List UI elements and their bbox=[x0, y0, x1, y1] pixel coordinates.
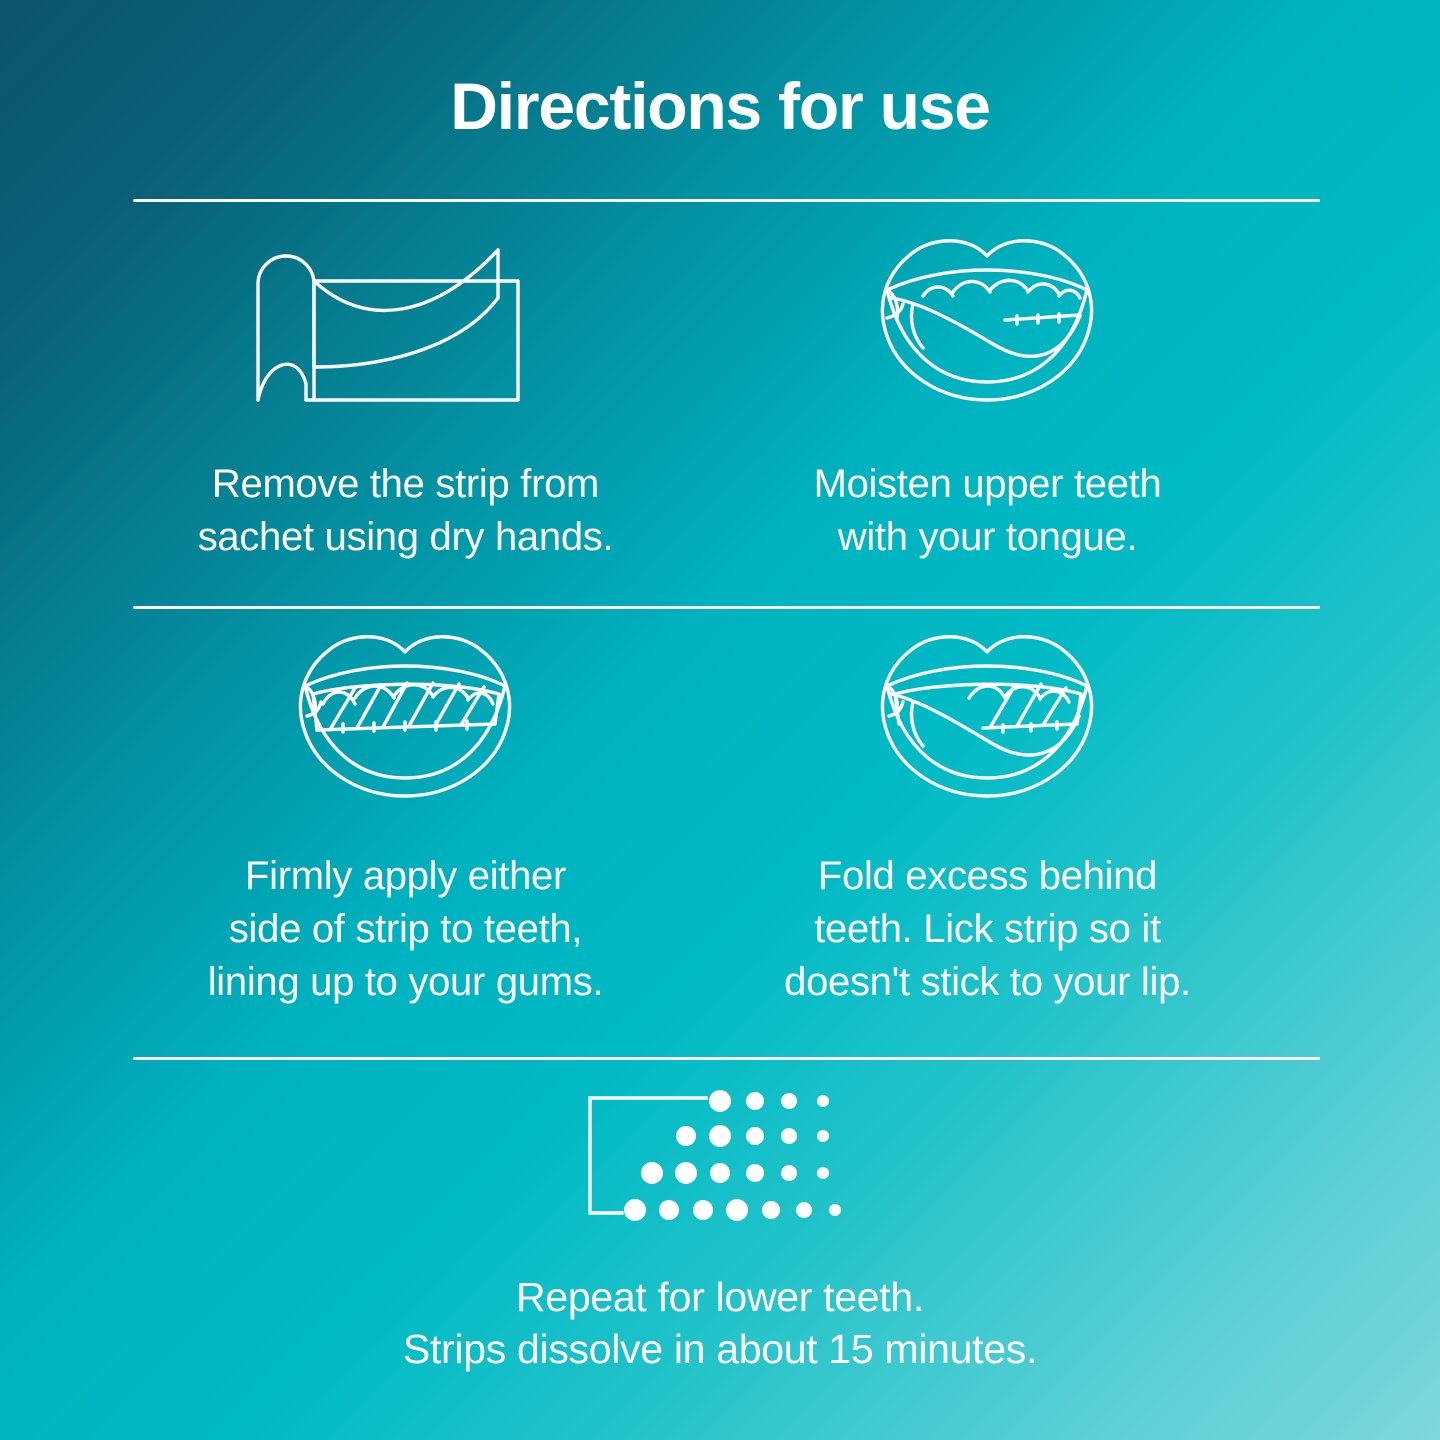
mouth-strip-applied-icon bbox=[133, 628, 678, 808]
divider-top bbox=[133, 199, 1320, 202]
strip-dissolving-dots-icon bbox=[300, 1088, 1140, 1233]
step-2-caption: Moisten upper teeth with your tongue. bbox=[715, 458, 1260, 564]
divider-middle bbox=[133, 606, 1320, 609]
page-title: Directions for use bbox=[0, 72, 1440, 141]
step-1-caption: Remove the strip from sachet using dry h… bbox=[133, 458, 678, 564]
step-5: Repeat for lower teeth. Strips dissolve … bbox=[300, 1088, 1140, 1375]
step-4-caption: Fold excess behind teeth. Lick strip so … bbox=[715, 850, 1260, 1009]
step-1: Remove the strip from sachet using dry h… bbox=[133, 232, 678, 564]
mouth-tongue-moisten-icon bbox=[715, 232, 1260, 412]
step-2: Moisten upper teeth with your tongue. bbox=[715, 232, 1260, 564]
divider-bottom bbox=[133, 1057, 1320, 1060]
directions-for-use-poster: Directions for use Remove the strip fr bbox=[0, 0, 1440, 1440]
step-3-caption: Firmly apply either side of strip to tee… bbox=[133, 850, 678, 1009]
step-4: Fold excess behind teeth. Lick strip so … bbox=[715, 628, 1260, 1009]
mouth-tongue-lick-strip-icon bbox=[715, 628, 1260, 808]
step-5-caption: Repeat for lower teeth. Strips dissolve … bbox=[300, 1271, 1140, 1375]
step-3: Firmly apply either side of strip to tee… bbox=[133, 628, 678, 1009]
sachet-strip-icon bbox=[133, 232, 678, 412]
